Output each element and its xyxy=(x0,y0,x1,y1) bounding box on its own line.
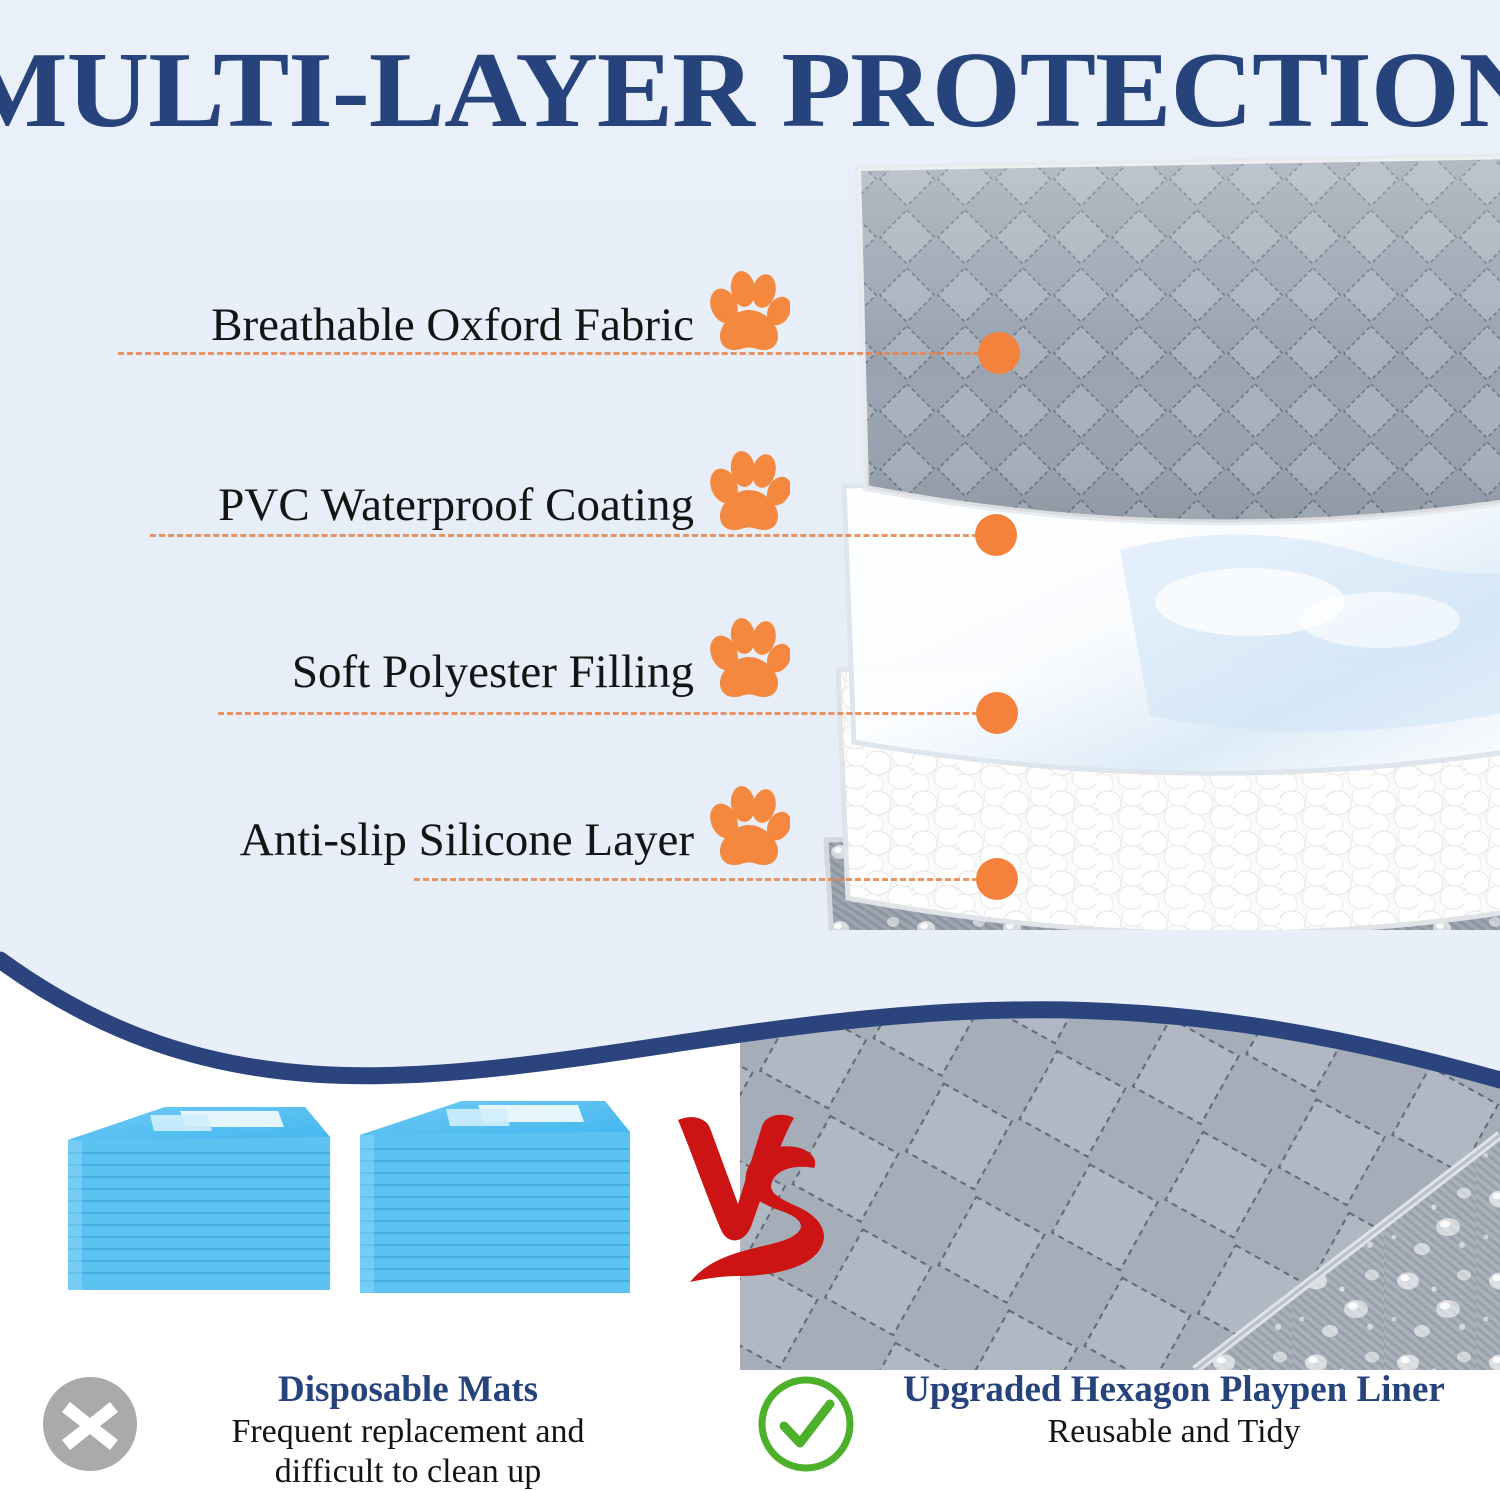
layer-label-row-pvc: PVC Waterproof Coating xyxy=(90,450,790,540)
connector-dot-oxford xyxy=(978,332,1020,374)
layer-stack-illustration xyxy=(820,150,1500,1030)
connector-dot-pvc xyxy=(975,514,1017,556)
layer-label-oxford: Breathable Oxford Fabric xyxy=(211,300,694,350)
connector-line-polyester xyxy=(218,712,996,715)
check-circle-icon xyxy=(756,1374,856,1474)
layer-label-polyester: Soft Polyester Filling xyxy=(292,647,694,697)
comparison-left-title: Disposable Mats xyxy=(158,1368,658,1412)
paw-print-icon xyxy=(708,785,790,871)
connector-line-oxford xyxy=(118,352,998,355)
comparison-left-desc-line2: difficult to clean up xyxy=(158,1452,658,1491)
layer-label-row-oxford: Breathable Oxford Fabric xyxy=(90,270,790,360)
connector-line-silicone xyxy=(414,878,996,881)
layer-label-row-silicone: Anti-slip Silicone Layer xyxy=(130,785,790,875)
layer-label-row-polyester: Soft Polyester Filling xyxy=(190,617,790,707)
paw-print-icon xyxy=(708,270,790,356)
versus-badge xyxy=(672,1112,842,1292)
layer-label-silicone: Anti-slip Silicone Layer xyxy=(240,815,694,865)
comparison-right: Upgraded Hexagon Playpen Liner Reusable … xyxy=(756,1368,1486,1488)
comparison-right-title: Upgraded Hexagon Playpen Liner xyxy=(874,1368,1474,1412)
cross-circle-icon xyxy=(40,1374,140,1474)
connector-dot-polyester xyxy=(976,692,1018,734)
pad-stack-left xyxy=(68,1107,330,1290)
comparison-left: Disposable Mats Frequent replacement and… xyxy=(40,1368,660,1488)
paw-print-icon xyxy=(708,617,790,703)
disposable-pads-image xyxy=(30,1075,670,1320)
page-title: MULTI-LAYER PROTECTION xyxy=(0,36,1500,146)
layer-label-pvc: PVC Waterproof Coating xyxy=(218,480,694,530)
connector-dot-silicone xyxy=(976,858,1018,900)
infographic-canvas: MULTI-LAYER PROTECTION Breathable Oxford… xyxy=(0,0,1500,1491)
comparison-right-desc-line1: Reusable and Tidy xyxy=(874,1412,1474,1452)
paw-print-icon xyxy=(708,450,790,536)
oxford-layer-swatch xyxy=(858,156,1500,522)
connector-line-pvc xyxy=(150,534,996,537)
comparison-left-desc-line1: Frequent replacement and xyxy=(158,1412,658,1452)
pad-stack-right xyxy=(360,1101,630,1293)
